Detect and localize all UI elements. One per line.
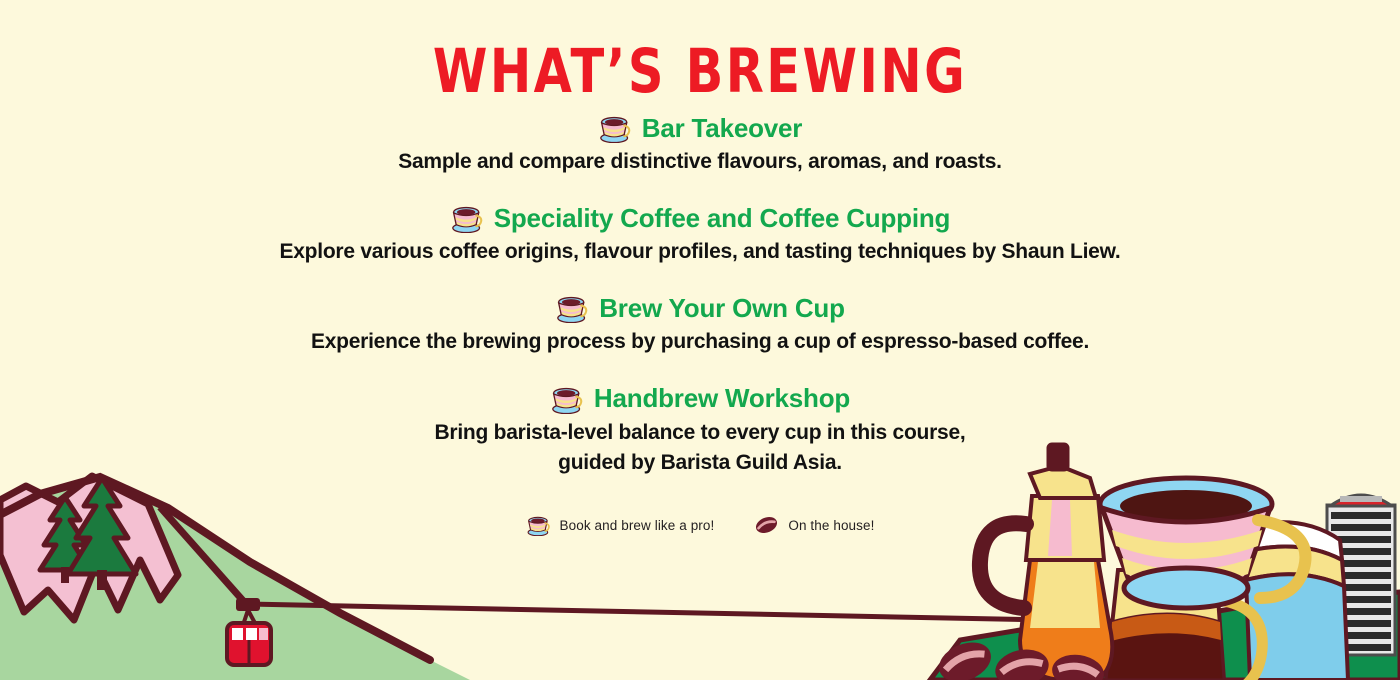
poster-content: WHAT’S BREWING <box>0 0 1400 536</box>
session-heading: Speciality Coffee and Coffee Cupping <box>0 201 1400 235</box>
stacked-cup-icon <box>598 113 632 143</box>
session-title: Speciality Coffee and Coffee Cupping <box>494 203 951 234</box>
stacked-cup-icon <box>550 384 584 414</box>
list-item: Bar Takeover Sample and compare distinct… <box>0 111 1400 177</box>
coffee-beans <box>933 635 1106 680</box>
mountain-green-lower-fill <box>0 560 340 680</box>
coffee-bean-icon <box>754 514 779 536</box>
legend-item-paid: Book and brew like a pro! <box>526 514 715 536</box>
list-item: Handbrew Workshop Bring barista-level ba… <box>0 382 1400 478</box>
session-description: Bring barista-level balance to every cup… <box>0 418 1400 478</box>
session-heading: Handbrew Workshop <box>0 382 1400 416</box>
session-description: Sample and compare distinctive flavours,… <box>0 147 1400 177</box>
ground-green <box>930 592 1400 680</box>
session-description: Explore various coffee origins, flavour … <box>0 237 1400 267</box>
session-title: Handbrew Workshop <box>594 383 850 414</box>
poster-canvas: WHAT’S BREWING <box>0 0 1400 680</box>
cable-car-gondola <box>227 598 271 665</box>
stacked-cup-icon <box>450 203 484 233</box>
legend-item-free: On the house! <box>754 514 874 536</box>
session-heading: Bar Takeover <box>0 111 1400 145</box>
session-description: Experience the brewing process by purcha… <box>0 327 1400 357</box>
legend: Book and brew like a pro! On the house! <box>0 514 1400 536</box>
cable-line <box>246 604 1400 627</box>
glass-carafe <box>1106 570 1262 680</box>
page-title: WHAT’S BREWING <box>21 0 1379 103</box>
session-title: Bar Takeover <box>642 113 802 144</box>
list-item: Speciality Coffee and Coffee Cupping Exp… <box>0 201 1400 267</box>
session-list: Bar Takeover Sample and compare distinct… <box>0 111 1400 478</box>
legend-label: Book and brew like a pro! <box>560 518 715 533</box>
legend-label: On the house! <box>788 518 874 533</box>
session-heading: Brew Your Own Cup <box>0 291 1400 325</box>
list-item: Brew Your Own Cup Experience the brewing… <box>0 291 1400 357</box>
stacked-cup-icon <box>555 293 589 323</box>
latte-mug <box>1240 522 1348 680</box>
session-title: Brew Your Own Cup <box>599 293 845 324</box>
stacked-cup-icon <box>526 514 551 536</box>
